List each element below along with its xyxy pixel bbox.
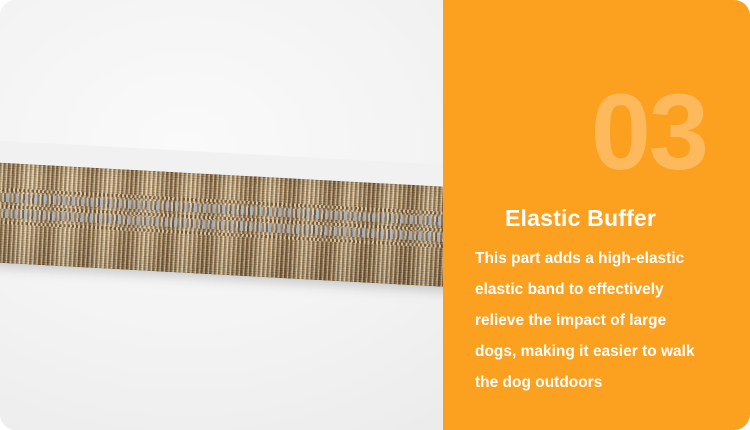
description-line: dogs, making it easier to walk [475,336,743,367]
info-panel: 03 Elastic Buffer This part adds a high-… [443,0,750,430]
description-line: the dog outdoors [475,367,743,398]
panel-description: This part adds a high-elastic elastic ba… [475,243,743,398]
description-line: This part adds a high-elastic [475,243,743,274]
description-line: relieve the impact of large [475,305,743,336]
elastic-webbing-strap-image [0,150,443,316]
description-line: elastic band to effectively [475,274,743,305]
feature-card: 03 Elastic Buffer This part adds a high-… [0,0,750,430]
step-number: 03 [591,78,707,186]
product-image-panel [0,0,443,430]
panel-title: Elastic Buffer [505,205,656,232]
